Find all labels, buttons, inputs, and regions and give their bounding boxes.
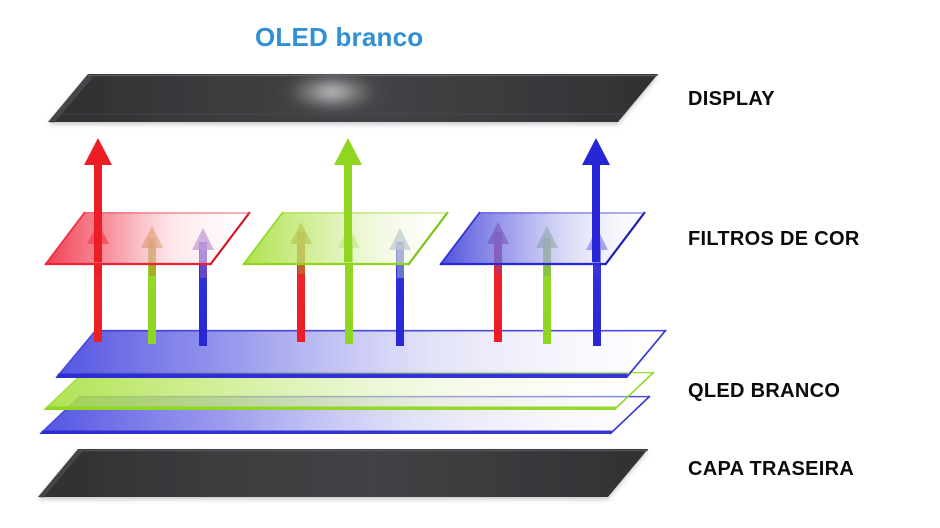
color-filter-blue-panel <box>440 212 645 265</box>
qled-layer-top-front-edge <box>56 374 628 379</box>
color-filter-red-group <box>45 212 250 265</box>
layer-label-filtros-de-cor: FILTROS DE COR <box>688 228 860 251</box>
emitted-arrow-red-head <box>84 138 112 165</box>
emitted-arrow-green-head <box>334 138 362 165</box>
layer-label-qled-branco: QLED BRANCO <box>688 380 840 403</box>
display-glow-highlight <box>286 75 378 109</box>
color-filter-blue-group <box>440 212 645 265</box>
qled-layer-middle-front-edge <box>44 407 616 411</box>
display-panel-layer <box>48 74 658 123</box>
back-cover-layer <box>38 449 648 498</box>
qled-layer-top <box>56 330 666 378</box>
color-filter-red-panel <box>45 212 250 265</box>
oled-layer-stack-diagram <box>0 0 940 528</box>
qled-layer-top-group <box>56 330 666 378</box>
emitted-arrow-red-shaft <box>94 152 102 262</box>
emitted-arrow-blue-head <box>582 138 610 165</box>
layer-label-display: DISPLAY <box>688 88 775 111</box>
diagram-canvas: OLED branco DISPLAY FILTROS DE COR QLED … <box>0 0 940 528</box>
diagram-title: OLED branco <box>255 22 423 53</box>
layer-label-capa-traseira: CAPA TRASEIRA <box>688 458 854 481</box>
emitted-arrow-green-shaft <box>344 152 352 262</box>
emitted-arrow-blue-shaft <box>592 152 600 262</box>
back-cover-slab <box>38 449 648 497</box>
qled-layer-bottom-front-edge <box>40 431 612 435</box>
